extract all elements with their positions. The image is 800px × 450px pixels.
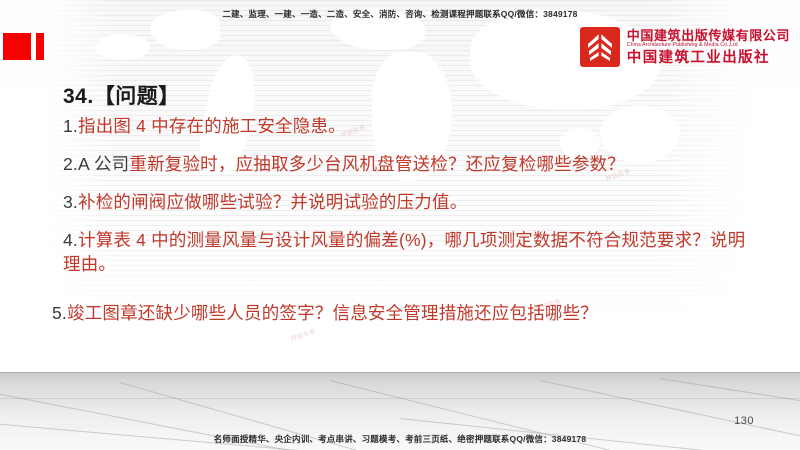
question-number-3: 3.	[63, 192, 78, 212]
question-text-2: 重新复验时，应抽取多少台风机盘管送检？还应复检哪些参数？	[129, 154, 625, 174]
question-lead-2: A 公司	[78, 154, 129, 174]
question-text-5: 竣工图章还缺少哪些人员的签字？信息安全管理措施还应包括哪些？	[67, 303, 598, 323]
publisher-press-cn: 中国建筑工业出版社	[627, 50, 790, 65]
header-promo-text: 二建、监理、一建、一造、二造、安全、消防、咨询、检测课程押题联系QQ/微信：38…	[0, 9, 800, 20]
question-number-2: 2.	[63, 154, 78, 174]
publisher-logo-text: 中国建筑出版传媒有限公司 China Architecture Publishi…	[627, 29, 790, 65]
publisher-logo: 中国建筑出版传媒有限公司 China Architecture Publishi…	[580, 27, 790, 67]
question-number-4: 4.	[63, 230, 78, 250]
question-text-1: 指出图 4 中存在的施工安全隐患。	[78, 116, 346, 136]
question-item-1: 1.指出图 4 中存在的施工安全隐患。	[63, 114, 783, 138]
footer-promo-text: 名师面授精华、央企内训、考点串讲、习题模考、考前三页纸、绝密押题联系QQ/微信：…	[0, 434, 800, 445]
floor-perspective-line	[660, 378, 800, 413]
question-number-1: 1.	[63, 116, 78, 136]
question-item-5: 5.竣工图章还缺少哪些人员的签字？信息安全管理措施还应包括哪些？	[52, 301, 782, 325]
presentation-slide: 二建、监理、一建、一造、二造、安全、消防、咨询、检测课程押题联系QQ/微信：38…	[0, 0, 800, 450]
question-number-5: 5.	[52, 303, 67, 323]
publisher-company-cn: 中国建筑出版传媒有限公司	[627, 29, 790, 43]
page-title: 34.【问题】	[63, 80, 180, 110]
question-item-3: 3.补检的闸阀应做哪些试验？并说明试验的压力值。	[63, 190, 783, 214]
question-text-4: 计算表 4 中的测量风量与设计风量的偏差(%)，哪几项测定数据不符合规范要求？说…	[63, 230, 745, 274]
question-text-3: 补检的闸阀应做哪些试验？并说明试验的压力值。	[78, 192, 467, 212]
question-item-2: 2.A 公司重新复验时，应抽取多少台风机盘管送检？还应复检哪些参数？	[63, 152, 783, 176]
red-square-decoration	[3, 33, 31, 60]
question-item-4: 4.计算表 4 中的测量风量与设计风量的偏差(%)，哪几项测定数据不符合规范要求…	[63, 228, 763, 276]
floor-horizon-line	[0, 372, 800, 373]
china-architecture-publishing-emblem-icon	[580, 27, 620, 67]
red-bar-decoration	[36, 33, 44, 60]
page-number: 130	[734, 415, 754, 427]
